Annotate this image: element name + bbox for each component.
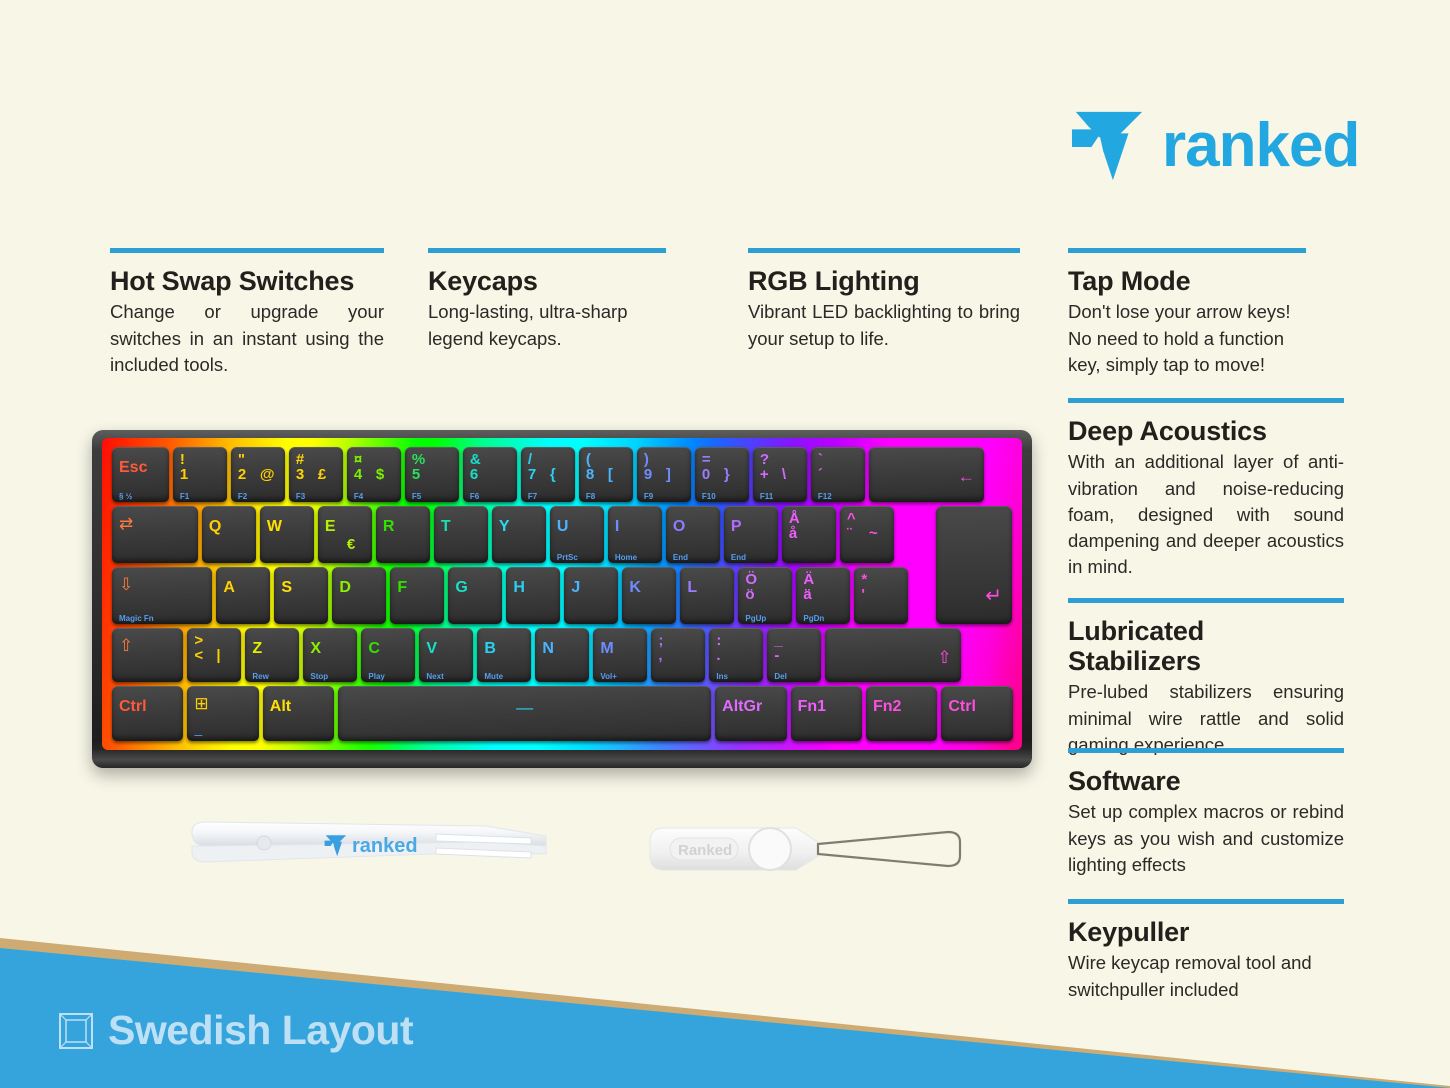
key-k[interactable]: K xyxy=(622,567,676,624)
key-caps-lock[interactable]: ⇩Magic Fn xyxy=(112,567,212,624)
key-c[interactable]: CPlay xyxy=(361,628,415,683)
key-[interactable]: ÄäPgDn xyxy=(796,567,850,624)
key-legend-center: U xyxy=(557,519,569,535)
key-g[interactable]: G xyxy=(448,567,502,624)
key-legend-main: 2 xyxy=(238,467,246,482)
key-[interactable]: `´F12 xyxy=(811,447,865,502)
key-t[interactable]: T xyxy=(434,506,488,563)
key-legend-main: AltGr xyxy=(722,699,762,715)
key-legend-sub: F11 xyxy=(760,493,773,501)
keyboard-product-image: Esc§ ½!1F1"2@F2#3£F3¤4$F4%5F5&6F6/7{F7(8… xyxy=(92,430,1032,768)
key-legend-center: D xyxy=(339,580,351,596)
key-legend-sub: PgDn xyxy=(803,615,824,623)
key-d[interactable]: D xyxy=(332,567,386,624)
key-z[interactable]: ZRew xyxy=(245,628,299,683)
keyboard-row-2: ⇄QWE€RTYUPrtScIHomeOEndPEndÅå^¨~↵ xyxy=(112,506,1012,563)
keyboard-front-lip xyxy=(92,750,1032,768)
feature-keycaps: Keycaps Long-lasting, ultra-sharp legend… xyxy=(428,248,666,352)
key-legend-top: Ö xyxy=(745,572,757,587)
key-y[interactable]: Y xyxy=(492,506,546,563)
key-i[interactable]: IHome xyxy=(608,506,662,563)
brand-wordmark: ranked xyxy=(1162,115,1359,177)
key-legend-alt: { xyxy=(550,467,556,482)
feature-rule xyxy=(1068,598,1344,603)
key-2[interactable]: "2@F2 xyxy=(231,447,285,502)
key-legend-sub: F2 xyxy=(238,493,247,501)
key-legend-main: 9 xyxy=(644,467,652,482)
key-[interactable]: ÖöPgUp xyxy=(738,567,792,624)
key-fn1[interactable]: Fn1 xyxy=(791,686,862,741)
key-legend-main: 5 xyxy=(412,467,420,482)
key-legend-center: X xyxy=(310,641,321,657)
key-legend-sub: Magic Fn xyxy=(119,615,154,623)
key-legend-alt: } xyxy=(724,467,730,482)
feature-rgb-lighting: RGB Lighting Vibrant LED backlighting to… xyxy=(748,248,1020,352)
key-legend-top: Ä xyxy=(803,572,814,587)
key-legend-top: / xyxy=(528,452,532,467)
key-legend-center: B xyxy=(484,641,496,657)
key-legend-main: 1 xyxy=(180,467,188,482)
key-legend-sub: F9 xyxy=(644,493,653,501)
key-8[interactable]: (8[F8 xyxy=(579,447,633,502)
key-legend-center: K xyxy=(629,580,641,596)
key-legend-sub: F3 xyxy=(296,493,305,501)
key-legend-alt: \ xyxy=(782,467,786,482)
feature-rule xyxy=(1068,248,1306,253)
key-legend-alt: [ xyxy=(608,467,613,482)
key-legend-center: S xyxy=(281,580,292,596)
key-legend-main: ö xyxy=(745,587,754,602)
key-legend-sub: F5 xyxy=(412,493,421,501)
key-legend-center: N xyxy=(542,641,554,657)
key-right-shift[interactable]: ⇧ xyxy=(825,628,960,683)
feature-rule xyxy=(1068,748,1344,753)
key-legend-main: - xyxy=(774,648,779,663)
key-spacebar[interactable]: — xyxy=(338,686,711,741)
keyboard-row-1: Esc§ ½!1F1"2@F2#3£F3¤4$F4%5F5&6F6/7{F7(8… xyxy=(112,447,1012,502)
key-legend-main: ä xyxy=(803,587,811,602)
key-legend-center: A xyxy=(223,580,235,596)
key-legend-center: V xyxy=(426,641,437,657)
feature-rule xyxy=(110,248,384,253)
key-p[interactable]: PEnd xyxy=(724,506,778,563)
feature-rule xyxy=(748,248,1020,253)
feature-body: Don't lose your arrow keys! No need to h… xyxy=(1068,299,1306,378)
key-icon: ↵ xyxy=(985,583,1002,608)
feature-body: Change or upgrade your switches in an in… xyxy=(110,299,384,378)
switch-puller-image: ranked xyxy=(186,816,568,878)
key-icon: ⊞ xyxy=(194,695,208,712)
key-legend-altgr: € xyxy=(347,537,355,552)
key-legend-main: 7 xyxy=(528,467,536,482)
key-legend-center: T xyxy=(441,519,451,535)
key-legend-main: Fn1 xyxy=(798,699,826,715)
key-tab[interactable]: ⇄ xyxy=(112,506,198,563)
key-m[interactable]: MVol+ xyxy=(593,628,647,683)
feature-deep-acoustics: Deep Acoustics With an additional layer … xyxy=(1068,398,1344,581)
key-legend-top: Å xyxy=(789,511,800,526)
key-6[interactable]: &6F6 xyxy=(463,447,517,502)
key-legend-center: P xyxy=(731,519,742,535)
feature-body: Long-lasting, ultra-sharp legend keycaps… xyxy=(428,299,666,352)
key-legend-top: # xyxy=(296,452,304,467)
key-[interactable]: :.Ins xyxy=(709,628,763,683)
feature-body: Vibrant LED backlighting to bring your s… xyxy=(748,299,1020,352)
key-legend-top: ^ xyxy=(847,511,856,526)
key-legend-sub: F1 xyxy=(180,493,189,501)
key-n[interactable]: N xyxy=(535,628,589,683)
key-legend-top: " xyxy=(238,452,245,467)
key-legend-main: ¨ xyxy=(847,526,852,541)
feature-rule xyxy=(428,248,666,253)
key-legend-main: Ctrl xyxy=(119,699,147,715)
key-legend-main: . xyxy=(716,648,720,663)
key-[interactable]: Åå xyxy=(782,506,836,563)
key-legend-center: M xyxy=(600,641,613,657)
feature-title: Software xyxy=(1068,766,1344,796)
key-legend-sub: End xyxy=(731,554,746,562)
key-legend-top: ; xyxy=(658,633,663,648)
key-legend-main: ´ xyxy=(818,467,823,482)
key-legend-sub: F10 xyxy=(702,493,716,501)
feature-title: Keycaps xyxy=(428,266,666,296)
key-legend-alt: ] xyxy=(666,467,671,482)
key-legend-sub: Ins xyxy=(716,673,728,681)
key-legend-sub: § ½ xyxy=(119,493,132,501)
key-0[interactable]: =0}F10 xyxy=(695,447,749,502)
key-legend-center: I xyxy=(615,519,619,535)
key-legend-center: F xyxy=(397,580,407,596)
keyboard-keys-plate: Esc§ ½!1F1"2@F2#3£F3¤4$F4%5F5&6F6/7{F7(8… xyxy=(102,438,1022,750)
brand-logo: ranked xyxy=(1070,108,1359,184)
key-7[interactable]: /7{F7 xyxy=(521,447,575,502)
keyboard-row-5: Ctrl⊞—Alt—AltGrFn1Fn2Ctrl xyxy=(112,686,1012,741)
key-5[interactable]: %5F5 xyxy=(405,447,459,502)
key-legend-top: = xyxy=(702,452,711,467)
keycap-puller-image: Ranked xyxy=(648,820,978,878)
key-legend-main: ' xyxy=(861,587,865,602)
key-legend-sub: Del xyxy=(774,673,786,681)
key-legend-sub: Next xyxy=(426,673,443,681)
feature-body: Set up complex macros or rebind keys as … xyxy=(1068,799,1344,878)
banner-label-group: Swedish Layout xyxy=(58,1007,413,1054)
feature-title: Lubricated Stabilizers xyxy=(1068,616,1344,676)
key-legend-main: Alt xyxy=(270,699,291,715)
key-legend-sub: F12 xyxy=(818,493,832,501)
key-legend-center: G xyxy=(455,580,467,596)
key-j[interactable]: J xyxy=(564,567,618,624)
key-legend-center: R xyxy=(383,519,395,535)
key-legend-top: ` xyxy=(818,452,823,467)
keyboard-row-3: ⇩Magic FnASDFGHJKLÖöPgUpÄäPgDn*' xyxy=(112,567,1012,624)
key-icon: ⇄ xyxy=(119,515,133,532)
key-legend-center: H xyxy=(513,580,525,596)
key-windows-key[interactable]: ⊞— xyxy=(187,686,258,741)
key-legend-main: 3 xyxy=(296,467,304,482)
key-3[interactable]: #3£F3 xyxy=(289,447,343,502)
key-left-shift[interactable]: ⇧ xyxy=(112,628,183,683)
key-legend-top: ( xyxy=(586,452,591,467)
key-[interactable]: ?+\F11 xyxy=(753,447,807,502)
key-legend-sub: Home xyxy=(615,554,637,562)
key-legend-center: Y xyxy=(499,519,510,535)
key-legend-center: Q xyxy=(209,519,221,535)
ranked-arrow-logo-icon xyxy=(1070,108,1148,184)
feature-rule xyxy=(1068,398,1344,403)
key-legend-sub: PgUp xyxy=(745,615,766,623)
key-legend-center: W xyxy=(267,519,282,535)
key-h[interactable]: H xyxy=(506,567,560,624)
key-backspace[interactable]: ← xyxy=(869,447,984,502)
key-legend-sub: Mute xyxy=(484,673,503,681)
feature-title: Hot Swap Switches xyxy=(110,266,384,296)
key-a[interactable]: A xyxy=(216,567,270,624)
key-legend-main: å xyxy=(789,526,797,541)
key-legend-top: > xyxy=(194,633,203,648)
feature-hot-swap-switches: Hot Swap Switches Change or upgrade your… xyxy=(110,248,384,378)
key-legend-top: ¤ xyxy=(354,452,362,467)
key-legend-main: 4 xyxy=(354,467,362,482)
key-legend-sub: PrtSc xyxy=(557,554,578,562)
banner-shapes xyxy=(0,888,1450,1088)
key-legend-main: + xyxy=(760,467,769,482)
banner-label: Swedish Layout xyxy=(108,1007,413,1054)
key-legend-top: : xyxy=(716,633,721,648)
key-legend-alt: @ xyxy=(260,467,275,482)
key-legend-sub: F4 xyxy=(354,493,363,501)
key-legend-sub: — xyxy=(194,732,202,740)
key-legend-top: ) xyxy=(644,452,649,467)
key-legend-top: % xyxy=(412,452,425,467)
key-icon: ⇩ xyxy=(119,576,133,593)
feature-title: Tap Mode xyxy=(1068,266,1306,296)
feature-tap-mode: Tap Mode Don't lose your arrow keys! No … xyxy=(1068,248,1306,378)
key-legend-center: E xyxy=(325,519,336,535)
feature-software: Software Set up complex macros or rebind… xyxy=(1068,748,1344,878)
key-1[interactable]: !1F1 xyxy=(173,447,227,502)
key-4[interactable]: ¤4$F4 xyxy=(347,447,401,502)
key-legend-sub: Rew xyxy=(252,673,268,681)
keycap-puller-brand-text: Ranked xyxy=(678,842,732,859)
key-l[interactable]: L xyxy=(680,567,734,624)
key-[interactable]: *' xyxy=(854,567,908,624)
key-ctrl[interactable]: Ctrl xyxy=(112,686,183,741)
key-legend-center: J xyxy=(571,580,580,596)
key-q[interactable]: Q xyxy=(202,506,256,563)
key-w[interactable]: W xyxy=(260,506,314,563)
key-legend-top: _ xyxy=(774,633,782,648)
key-icon: ⇧ xyxy=(119,637,133,654)
key-x[interactable]: XStop xyxy=(303,628,357,683)
feature-body: With an additional layer of anti-vibrati… xyxy=(1068,449,1344,580)
key-legend-alt: ~ xyxy=(869,526,878,541)
key-o[interactable]: OEnd xyxy=(666,506,720,563)
swedish-layout-banner: Swedish Layout xyxy=(0,888,1450,1088)
key-legend-center: C xyxy=(368,641,380,657)
key-s[interactable]: S xyxy=(274,567,328,624)
key-legend-top: & xyxy=(470,452,481,467)
key-legend-sub: F8 xyxy=(586,493,595,501)
key-legend-main: 6 xyxy=(470,467,478,482)
key-[interactable]: _-Del xyxy=(767,628,821,683)
feature-title: RGB Lighting xyxy=(748,266,1020,296)
key-legend-top: ? xyxy=(760,452,769,467)
feature-body: Pre-lubed stabilizers ensuring minimal w… xyxy=(1068,679,1344,758)
key-legend-main: 0 xyxy=(702,467,710,482)
keycap-outline-icon xyxy=(58,1011,94,1051)
key-[interactable]: ><| xyxy=(187,628,241,683)
key-legend-main: , xyxy=(658,648,662,663)
key-fn2[interactable]: Fn2 xyxy=(866,686,937,741)
key-legend-sub: Stop xyxy=(310,673,328,681)
key-u[interactable]: UPrtSc xyxy=(550,506,604,563)
key-altgr[interactable]: AltGr xyxy=(715,686,786,741)
key-v[interactable]: VNext xyxy=(419,628,473,683)
key-legend-main: Esc xyxy=(119,460,147,476)
key-enter[interactable]: ↵ xyxy=(936,506,1012,624)
key-legend-center: O xyxy=(673,519,685,535)
key-legend-alt: $ xyxy=(376,467,384,482)
key-icon: — xyxy=(516,699,533,716)
key-legend-main: 8 xyxy=(586,467,594,482)
key-legend-center: L xyxy=(687,580,697,596)
key-[interactable]: ;, xyxy=(651,628,705,683)
key-[interactable]: ^¨~ xyxy=(840,506,894,563)
key-legend-sub: F6 xyxy=(470,493,479,501)
key-9[interactable]: )9]F9 xyxy=(637,447,691,502)
keyboard-case: Esc§ ½!1F1"2@F2#3£F3¤4$F4%5F5&6F6/7{F7(8… xyxy=(92,430,1032,768)
key-icon: ← xyxy=(958,468,975,485)
key-legend-sub: F7 xyxy=(528,493,537,501)
key-legend-top: * xyxy=(861,572,867,587)
key-legend-sub: End xyxy=(673,554,688,562)
key-alt[interactable]: Alt xyxy=(263,686,334,741)
key-legend-main: < xyxy=(194,648,203,663)
key-f[interactable]: F xyxy=(390,567,444,624)
switch-puller-brand-text: ranked xyxy=(352,835,418,857)
key-esc[interactable]: Esc§ ½ xyxy=(112,447,169,502)
key-legend-top: ! xyxy=(180,452,185,467)
key-legend-main: Fn2 xyxy=(873,699,901,715)
key-legend-main: Ctrl xyxy=(948,699,976,715)
key-legend-center: Z xyxy=(252,641,262,657)
key-icon: ⇧ xyxy=(937,649,951,666)
key-legend-alt: | xyxy=(216,648,220,663)
feature-lubricated-stabilizers: Lubricated Stabilizers Pre-lubed stabili… xyxy=(1068,598,1344,758)
key-legend-alt: £ xyxy=(318,467,326,482)
key-legend-sub: Vol+ xyxy=(600,673,617,681)
key-e[interactable]: E€ xyxy=(318,506,372,563)
feature-title: Deep Acoustics xyxy=(1068,416,1344,446)
key-ctrl[interactable]: Ctrl xyxy=(941,686,1012,741)
key-r[interactable]: R xyxy=(376,506,430,563)
key-legend-sub: Play xyxy=(368,673,384,681)
keyboard-row-4: ⇧><|ZRewXStopCPlayVNextBMuteNMVol+;,:.In… xyxy=(112,628,1012,683)
key-b[interactable]: BMute xyxy=(477,628,531,683)
